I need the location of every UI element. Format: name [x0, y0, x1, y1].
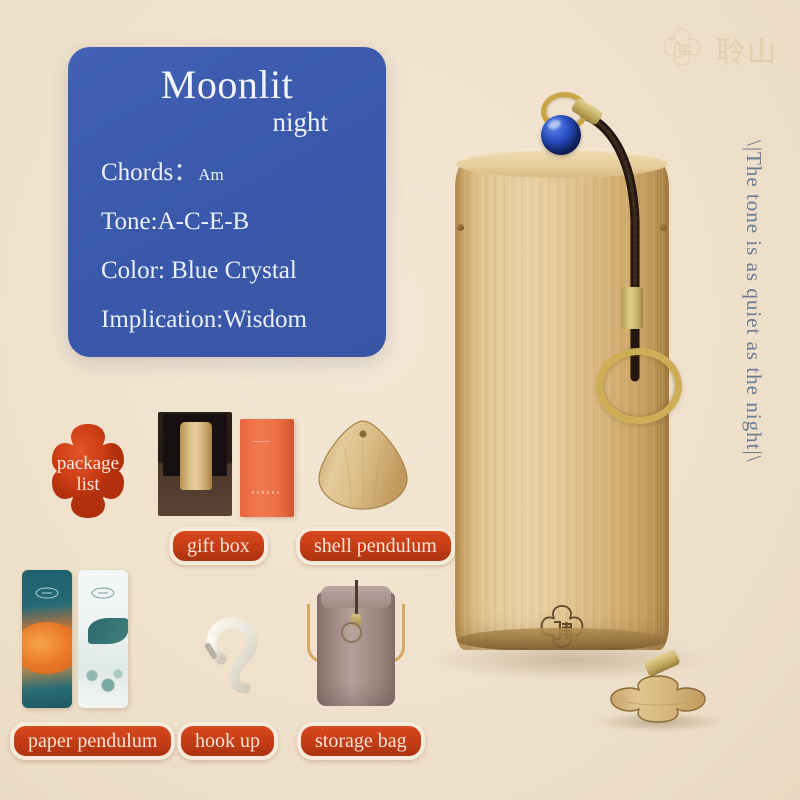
label-storage-bag: storage bag — [297, 722, 425, 760]
gift-box-tray — [158, 412, 232, 516]
spec-color: Color: Blue Crystal — [101, 258, 372, 283]
shell-pendulum-item — [315, 418, 411, 512]
spec-chords-label: Chords： — [101, 159, 198, 186]
label-paper-pendulum: paper pendulum — [10, 722, 175, 760]
spec-chords-value: Am — [198, 165, 224, 184]
bookmark-2-logo-icon — [89, 586, 117, 600]
label-shell-pendulum: shell pendulum — [296, 527, 455, 565]
gift-box-chime-inside — [180, 422, 212, 490]
bookmark-2-dots — [84, 666, 124, 698]
bookmark-card-1 — [22, 570, 72, 708]
watermark-characters: 聆山 — [716, 29, 778, 71]
product-title: Moonlit — [68, 61, 386, 108]
spec-chords: Chords：Am — [101, 160, 372, 185]
bookmark-1-logo-icon — [33, 586, 61, 600]
quatrefoil-emblem-icon — [658, 26, 706, 74]
sleeve-text-mark — [252, 491, 280, 494]
vertical-slogan: \|The tone is as quiet as the night|\ — [741, 140, 766, 640]
product-subtitle: night — [272, 107, 328, 138]
blue-crystal-bead — [541, 115, 581, 155]
bag-hang-string — [355, 580, 358, 614]
product-info-card: Moonlit night Chords：Am Tone:A-C-E-B Col… — [68, 47, 386, 357]
bookmark-card-2 — [78, 570, 128, 708]
quatrefoil-wood-pendant — [596, 672, 720, 730]
gift-box-item — [158, 406, 294, 524]
cylinder-bottom-rim — [457, 628, 667, 650]
storage-bag-item — [313, 578, 399, 706]
spec-tone: Tone:A-C-E-B — [101, 209, 372, 234]
product-spec-list: Chords：Am Tone:A-C-E-B Color: Blue Cryst… — [101, 160, 372, 356]
bag-logo-tag — [341, 622, 362, 643]
package-list-badge: package list — [33, 420, 143, 528]
spec-implication: Implication:Wisdom — [101, 307, 372, 332]
product-image-canvas: 聆山 Moonlit night Chords：Am Tone:A-C-E-B … — [0, 0, 800, 800]
sleeve-line — [252, 441, 270, 442]
gold-ring — [596, 348, 682, 424]
gift-box-sleeve — [240, 419, 294, 517]
label-gift-box: gift box — [169, 527, 268, 565]
hook-up-item — [186, 612, 266, 708]
label-hook-up: hook up — [177, 722, 278, 760]
bookmark-2-art — [88, 618, 128, 644]
paper-pendulum-item — [22, 570, 142, 710]
bookmark-1-art — [22, 622, 72, 674]
brand-watermark: 聆山 — [658, 26, 778, 74]
brass-sleeve — [621, 287, 643, 329]
